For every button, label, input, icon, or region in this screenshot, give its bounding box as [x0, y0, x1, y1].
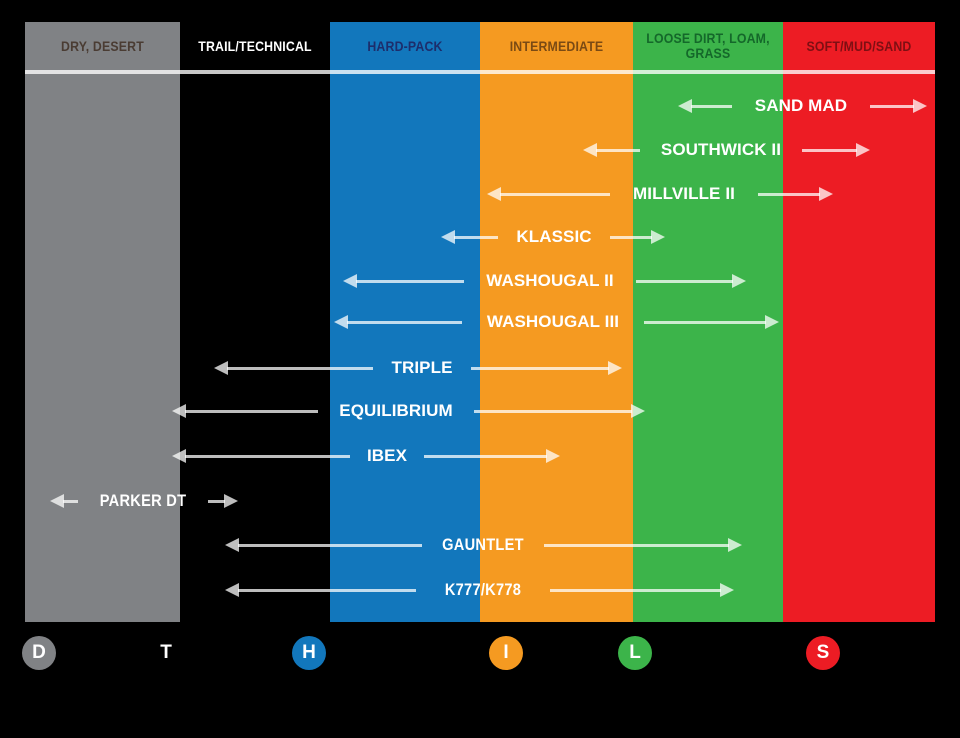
- arrow-shaft-right: [870, 105, 914, 108]
- tire-model-label: MILLVILLE II: [620, 181, 748, 207]
- arrow-shaft-left: [63, 500, 78, 503]
- tire-row-klassic: KLASSIC: [0, 224, 960, 250]
- arrow-shaft-right: [644, 321, 766, 324]
- arrow-shaft-left: [185, 455, 350, 458]
- arrow-head-left-icon: [583, 143, 597, 157]
- tire-model-label: SAND MAD: [742, 93, 860, 119]
- arrow-head-right-icon: [720, 583, 734, 597]
- arrow-shaft-right: [610, 236, 652, 239]
- arrow-head-right-icon: [728, 538, 742, 552]
- arrow-head-right-icon: [631, 404, 645, 418]
- terrain-column-header-soft: SOFT/MUD/SAND: [792, 22, 926, 70]
- arrow-shaft-left: [596, 149, 640, 152]
- arrow-shaft-right: [550, 589, 721, 592]
- arrow-shaft-right: [636, 280, 733, 283]
- arrow-shaft-left: [227, 367, 373, 370]
- tire-model-label: PARKER DT: [96, 488, 191, 514]
- tire-row-washougal-iii: WASHOUGAL III: [0, 309, 960, 335]
- legend-bubble-intermediate[interactable]: I: [489, 636, 523, 670]
- terrain-suitability-chart: DRY, DESERTTRAIL/TECHNICALHARD-PACKINTER…: [0, 0, 960, 738]
- tire-row-triple: TRIPLE: [0, 355, 960, 381]
- tire-model-label: WASHOUGAL II: [474, 268, 626, 294]
- arrow-shaft-right: [471, 367, 609, 370]
- tire-model-label: K777/K778: [434, 577, 532, 603]
- tire-model-label: SOUTHWICK II: [650, 137, 792, 163]
- tire-row-gauntlet: GAUNTLET: [0, 532, 960, 558]
- tire-row-k777-k778: K777/K778: [0, 577, 960, 603]
- arrow-shaft-left: [454, 236, 498, 239]
- arrow-head-right-icon: [765, 315, 779, 329]
- arrow-shaft-left: [356, 280, 464, 283]
- arrow-head-left-icon: [50, 494, 64, 508]
- legend-bubble-loose[interactable]: L: [618, 636, 652, 670]
- arrow-shaft-left: [347, 321, 462, 324]
- tire-model-label: TRIPLE: [383, 355, 461, 381]
- tire-row-washougal-ii: WASHOUGAL II: [0, 268, 960, 294]
- tire-row-millville-ii: MILLVILLE II: [0, 181, 960, 207]
- arrow-shaft-left: [691, 105, 732, 108]
- legend-bubble-soft[interactable]: S: [806, 636, 840, 670]
- tire-row-parker-dt: PARKER DT: [0, 488, 960, 514]
- arrow-head-left-icon: [678, 99, 692, 113]
- arrow-shaft-left: [500, 193, 610, 196]
- arrow-shaft-right: [802, 149, 857, 152]
- header-divider: [25, 70, 935, 74]
- legend-bubble-dry[interactable]: D: [22, 636, 56, 670]
- arrow-head-right-icon: [732, 274, 746, 288]
- terrain-column-header-intermediate: INTERMEDIATE: [489, 22, 624, 70]
- arrow-shaft-left: [238, 589, 416, 592]
- arrow-head-left-icon: [225, 583, 239, 597]
- tire-model-label: KLASSIC: [508, 224, 600, 250]
- arrow-head-right-icon: [913, 99, 927, 113]
- arrow-head-left-icon: [172, 449, 186, 463]
- arrow-head-left-icon: [172, 404, 186, 418]
- tire-model-label: IBEX: [360, 443, 414, 469]
- tire-row-sand-mad: SAND MAD: [0, 93, 960, 119]
- tire-model-label: EQUILIBRIUM: [328, 398, 464, 424]
- arrow-head-left-icon: [343, 274, 357, 288]
- arrow-head-left-icon: [225, 538, 239, 552]
- tire-row-equilibrium: EQUILIBRIUM: [0, 398, 960, 424]
- arrow-head-left-icon: [441, 230, 455, 244]
- tire-model-label: WASHOUGAL III: [472, 309, 634, 335]
- terrain-column-header-loose: LOOSE DIRT, LOAM, GRASS: [642, 22, 774, 70]
- terrain-column-header-hardpack: HARD-PACK: [339, 22, 471, 70]
- tire-row-southwick-ii: SOUTHWICK II: [0, 137, 960, 163]
- arrow-shaft-right: [474, 410, 632, 413]
- arrow-head-left-icon: [487, 187, 501, 201]
- arrow-shaft-right: [208, 500, 225, 503]
- arrow-head-right-icon: [546, 449, 560, 463]
- legend-bubble-trail[interactable]: T: [149, 636, 183, 670]
- arrow-head-right-icon: [224, 494, 238, 508]
- legend-bubble-hardpack[interactable]: H: [292, 636, 326, 670]
- arrow-head-right-icon: [608, 361, 622, 375]
- arrow-shaft-right: [758, 193, 820, 196]
- arrow-head-right-icon: [856, 143, 870, 157]
- arrow-head-right-icon: [819, 187, 833, 201]
- arrow-shaft-right: [544, 544, 729, 547]
- terrain-column-header-trail: TRAIL/TECHNICAL: [189, 22, 321, 70]
- tire-model-label: GAUNTLET: [439, 532, 527, 558]
- terrain-column-header-dry: DRY, DESERT: [34, 22, 170, 70]
- arrow-head-right-icon: [651, 230, 665, 244]
- tire-row-ibex: IBEX: [0, 443, 960, 469]
- arrow-shaft-left: [185, 410, 318, 413]
- arrow-head-left-icon: [334, 315, 348, 329]
- arrow-shaft-left: [238, 544, 422, 547]
- arrow-head-left-icon: [214, 361, 228, 375]
- arrow-shaft-right: [424, 455, 547, 458]
